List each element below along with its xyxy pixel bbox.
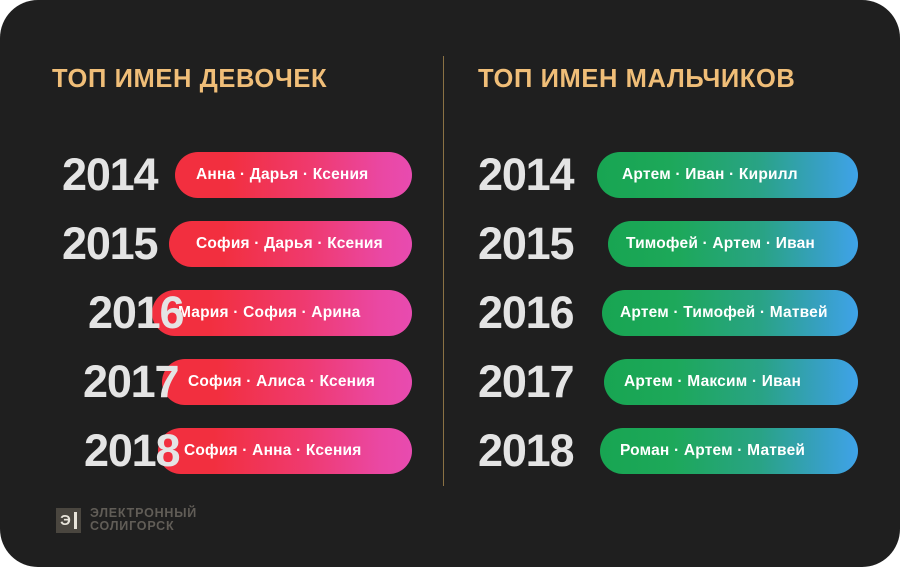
year-label: 2016 xyxy=(478,287,573,339)
year-label: 2017 xyxy=(478,356,573,408)
top-names-text: Роман · Артем · Матвей xyxy=(620,428,805,474)
column-divider xyxy=(443,56,444,486)
column-title-boys: ТОП ИМЕН МАЛЬЧИКОВ xyxy=(478,65,795,94)
logo-mark-icon: Э xyxy=(56,508,81,533)
logo-mark-bar xyxy=(74,512,77,529)
year-label: 2015 xyxy=(478,218,573,270)
top-names-text: Артем · Максим · Иван xyxy=(624,359,801,405)
name-row: Роман · Артем · Матвей2018 xyxy=(0,428,900,474)
top-names-text: Артем · Тимофей · Матвей xyxy=(620,290,828,336)
name-row: Артем · Иван · Кирилл2014 xyxy=(0,152,900,198)
logo-text: ЭЛЕКТРОННЫЙ СОЛИГОРСК xyxy=(90,507,197,533)
top-names-text: Тимофей · Артем · Иван xyxy=(626,221,815,267)
logo-line-2: СОЛИГОРСК xyxy=(90,520,197,533)
name-row: Артем · Тимофей · Матвей2016 xyxy=(0,290,900,336)
year-label: 2014 xyxy=(478,149,573,201)
column-title-girls: ТОП ИМЕН ДЕВОЧЕК xyxy=(52,65,327,94)
infographic-card: ТОП ИМЕН ДЕВОЧЕК ТОП ИМЕН МАЛЬЧИКОВ Анна… xyxy=(0,0,900,567)
name-row: Тимофей · Артем · Иван2015 xyxy=(0,221,900,267)
logo-mark-glyph: Э xyxy=(60,512,71,529)
year-label: 2018 xyxy=(478,425,573,477)
name-row: Артем · Максим · Иван2017 xyxy=(0,359,900,405)
logo: Э ЭЛЕКТРОННЫЙ СОЛИГОРСК xyxy=(56,507,197,533)
top-names-text: Артем · Иван · Кирилл xyxy=(622,152,798,198)
